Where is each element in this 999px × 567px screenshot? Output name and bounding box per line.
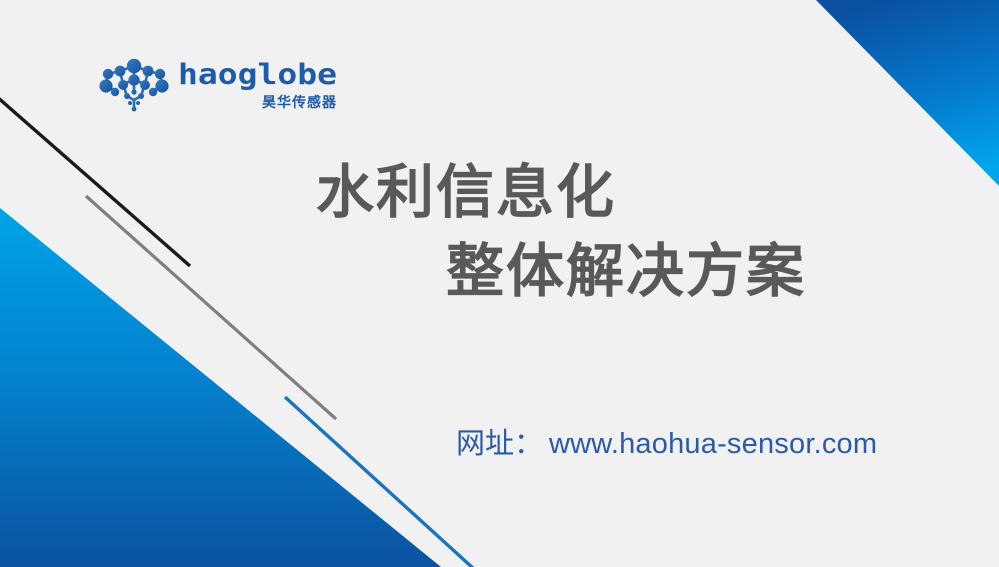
- page-title: 水利信息化 整体解决方案: [0, 160, 999, 305]
- network-nodes-logo-icon: [96, 58, 172, 116]
- website-url[interactable]: www.haohua-sensor.com: [549, 428, 877, 461]
- website-label: 网址：: [456, 420, 543, 462]
- title-slide: haoglobe 昊华传感器 水利信息化 整体解决方案 网址： www.haoh…: [0, 0, 999, 567]
- title-line-1: 水利信息化: [316, 160, 999, 227]
- logo-wordmark: haoglobe: [178, 60, 337, 88]
- website-line: 网址： www.haohua-sensor.com: [456, 420, 877, 462]
- brand-logo: haoglobe 昊华传感器: [96, 58, 311, 120]
- logo-sub-wordmark: 昊华传感器: [262, 95, 337, 109]
- top-right-triangle: [816, 0, 999, 186]
- title-line-2: 整体解决方案: [446, 239, 999, 306]
